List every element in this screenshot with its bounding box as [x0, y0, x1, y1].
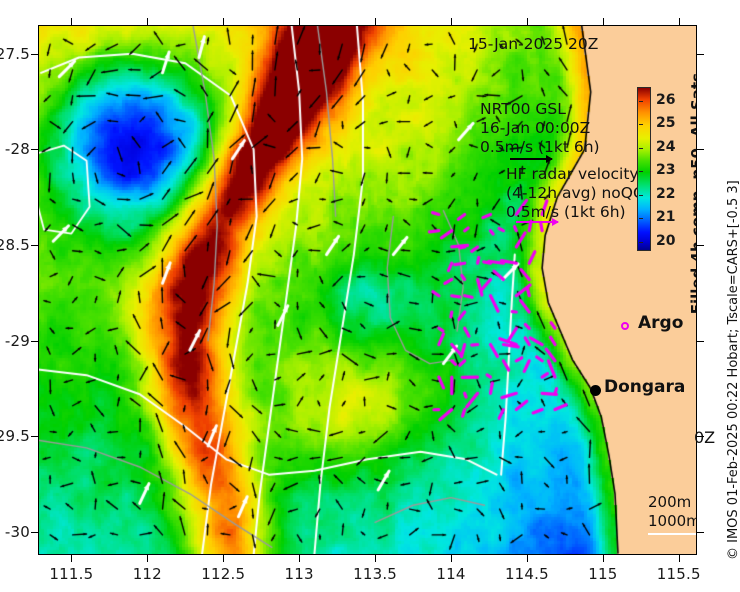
x-tick-top [71, 18, 72, 25]
depth-1000m-label: 1000m [648, 512, 697, 531]
x-tick-top [223, 18, 224, 25]
x-tick-top [375, 18, 376, 25]
x-tick [147, 555, 148, 562]
colorbar-tick [639, 171, 643, 172]
dongara-label: Dongara [604, 377, 685, 397]
y-tick [31, 245, 38, 246]
colorbar-gradient [637, 87, 651, 251]
colorbar-tick-label: 20 [656, 233, 675, 249]
colorbar-title: Filled 4h comp, p50, All Sats [688, 73, 697, 314]
x-tick-label: 114.5 [487, 565, 567, 583]
x-tick-label: 112.5 [183, 565, 263, 583]
y-tick-right [697, 54, 704, 55]
y-tick-right [697, 149, 704, 150]
argo-marker-icon[interactable] [621, 322, 629, 330]
x-tick-top [451, 18, 452, 25]
colorbar-tick-label: 21 [656, 209, 675, 225]
y-tick [31, 532, 38, 533]
colorbar-tick [639, 218, 643, 219]
colorbar-tick-label: 22 [656, 186, 675, 202]
y-tick [31, 436, 38, 437]
x-tick [299, 555, 300, 562]
y-tick-label: -28 [0, 140, 30, 158]
clipped-edge-text: 0Z [694, 428, 715, 447]
dongara-marker-icon[interactable] [590, 385, 601, 396]
y-tick [31, 149, 38, 150]
x-tick [451, 555, 452, 562]
colorbar-tick [639, 124, 643, 125]
date-label: 15-Jan-2025 20Z [468, 35, 598, 54]
gsl-annotation: NRT00 GSL 16-Jan 00:00Z 0.5m/s (1kt 6h) [480, 100, 600, 157]
hf-reference-arrow-icon [516, 221, 558, 223]
colorbar-tick [639, 195, 643, 196]
x-tick-top [527, 18, 528, 25]
x-tick-top [147, 18, 148, 25]
map-plot-area[interactable]: 15-Jan-2025 20Z NRT00 GSL 16-Jan 00:00Z … [38, 25, 697, 555]
colorbar-tick [639, 242, 643, 243]
x-tick [527, 555, 528, 562]
y-tick-label: 27.5 [0, 45, 30, 63]
x-tick-label: 111.5 [31, 565, 111, 583]
x-tick [223, 555, 224, 562]
colorbar-tick [639, 101, 643, 102]
x-tick [375, 555, 376, 562]
x-tick-label: 114 [411, 565, 491, 583]
x-tick-top [603, 18, 604, 25]
argo-label: Argo [638, 313, 683, 333]
x-tick [679, 555, 680, 562]
x-tick-label: 113.5 [335, 565, 415, 583]
x-tick-top [679, 18, 680, 25]
map-figure: 15-Jan-2025 20Z NRT00 GSL 16-Jan 00:00Z … [0, 0, 740, 592]
x-tick-label: 113 [259, 565, 339, 583]
y-tick-label: -29 [0, 332, 30, 350]
hf-radar-annotation: HF radar velocity (4-12h avg) noQC 0.5m/… [506, 165, 644, 222]
x-tick [603, 555, 604, 562]
colorbar-tick-label: 25 [656, 115, 675, 131]
isobath-1000m-legend-line [648, 533, 697, 535]
y-tick-right [697, 245, 704, 246]
y-tick-right [697, 436, 704, 437]
copyright-text: © IMOS 01-Feb-2025 00:22 Hobart; Tscale=… [726, 180, 740, 560]
y-tick [31, 341, 38, 342]
depth-contour-legend: 200m 1000m [648, 493, 697, 531]
x-tick-label: 112 [107, 565, 187, 583]
colorbar-tick-label: 24 [656, 139, 675, 155]
y-tick-right [697, 532, 704, 533]
depth-200m-label: 200m [648, 493, 697, 512]
x-tick-top [299, 18, 300, 25]
gsl-reference-arrow-icon [510, 158, 552, 160]
y-tick-label: 29.5 [0, 427, 30, 445]
y-tick-label: 28.5 [0, 236, 30, 254]
x-tick [71, 555, 72, 562]
y-tick [31, 54, 38, 55]
colorbar-tick-label: 23 [656, 162, 675, 178]
colorbar-tick-label: 26 [656, 92, 675, 108]
colorbar-tick [639, 148, 643, 149]
y-tick-right [697, 341, 704, 342]
x-tick-label: 115.5 [639, 565, 719, 583]
y-tick-label: -30 [0, 523, 30, 541]
x-tick-label: 115 [563, 565, 643, 583]
